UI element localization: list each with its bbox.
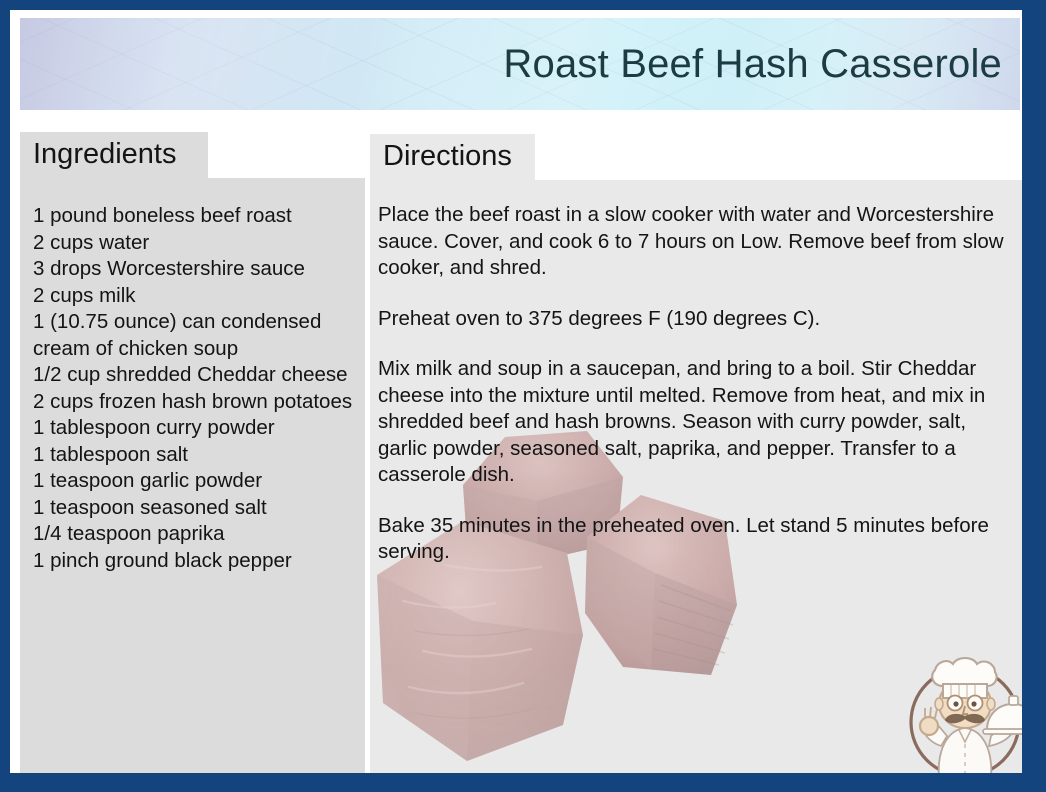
header-banner: Roast Beef Hash Casserole xyxy=(20,18,1020,110)
ingredients-list: 1 pound boneless beef roast 2 cups water… xyxy=(33,203,353,574)
recipe-page: Roast Beef Hash Casserole Ingredients 1 … xyxy=(10,10,1022,773)
direction-step: Preheat oven to 375 degrees F (190 degre… xyxy=(378,306,1012,333)
direction-step: Place the beef roast in a slow cooker wi… xyxy=(378,202,1012,282)
directions-heading: Directions xyxy=(370,134,535,180)
ingredients-panel: 1 pound boneless beef roast 2 cups water… xyxy=(20,178,365,773)
page-title: Roast Beef Hash Casserole xyxy=(503,43,1002,85)
list-item: 1/2 cup shredded Cheddar cheese xyxy=(33,362,353,389)
chef-logo xyxy=(895,646,1022,773)
direction-step: Mix milk and soup in a saucepan, and bri… xyxy=(378,356,1012,489)
directions-steps: Place the beef roast in a slow cooker wi… xyxy=(378,202,1012,566)
list-item: 1/4 teaspoon paprika xyxy=(33,521,353,548)
direction-step: Bake 35 minutes in the preheated oven. L… xyxy=(378,513,1012,566)
list-item: 2 cups water xyxy=(33,230,353,257)
list-item: 1 teaspoon seasoned salt xyxy=(33,495,353,522)
list-item: 1 teaspoon garlic powder xyxy=(33,468,353,495)
recipe-card: Roast Beef Hash Casserole Ingredients 1 … xyxy=(0,0,1046,792)
ingredients-heading: Ingredients xyxy=(20,132,208,178)
list-item: 1 pinch ground black pepper xyxy=(33,548,353,575)
list-item: 1 (10.75 ounce) can condensed cream of c… xyxy=(33,309,353,362)
list-item: 2 cups milk xyxy=(33,283,353,310)
list-item: 1 tablespoon salt xyxy=(33,442,353,469)
list-item: 3 drops Worcestershire sauce xyxy=(33,256,353,283)
list-item: 2 cups frozen hash brown potatoes xyxy=(33,389,353,416)
list-item: 1 tablespoon curry powder xyxy=(33,415,353,442)
list-item: 1 pound boneless beef roast xyxy=(33,203,353,230)
